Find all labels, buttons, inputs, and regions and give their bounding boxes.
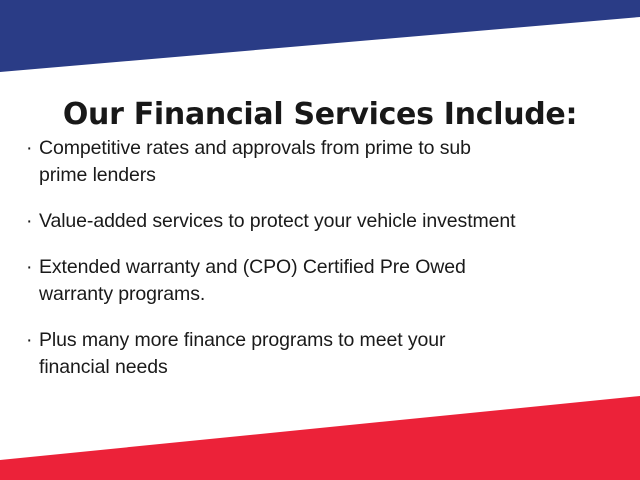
bullet-dot-icon: · (26, 254, 32, 281)
list-item-text: Competitive rates and approvals from pri… (39, 135, 624, 189)
list-item: · Extended warranty and (CPO) Certified … (24, 254, 624, 308)
bullet-dot-icon: · (26, 208, 32, 235)
presentation-slide: Our Financial Services Include: · Compet… (0, 0, 640, 480)
list-item-text: Plus many more finance programs to meet … (39, 327, 624, 381)
list-item: · Competitive rates and approvals from p… (24, 135, 624, 189)
services-bullet-list: · Competitive rates and approvals from p… (24, 135, 624, 381)
red-diagonal-banner (0, 396, 640, 480)
bullet-dot-icon: · (26, 135, 32, 162)
page-title: Our Financial Services Include: (0, 98, 640, 132)
list-item: · Plus many more finance programs to mee… (24, 327, 624, 381)
list-item-text: Value-added services to protect your veh… (39, 208, 624, 235)
blue-diagonal-banner (0, 0, 640, 72)
list-item-text: Extended warranty and (CPO) Certified Pr… (39, 254, 624, 308)
list-item: · Value-added services to protect your v… (24, 208, 624, 235)
bullet-dot-icon: · (26, 327, 32, 354)
